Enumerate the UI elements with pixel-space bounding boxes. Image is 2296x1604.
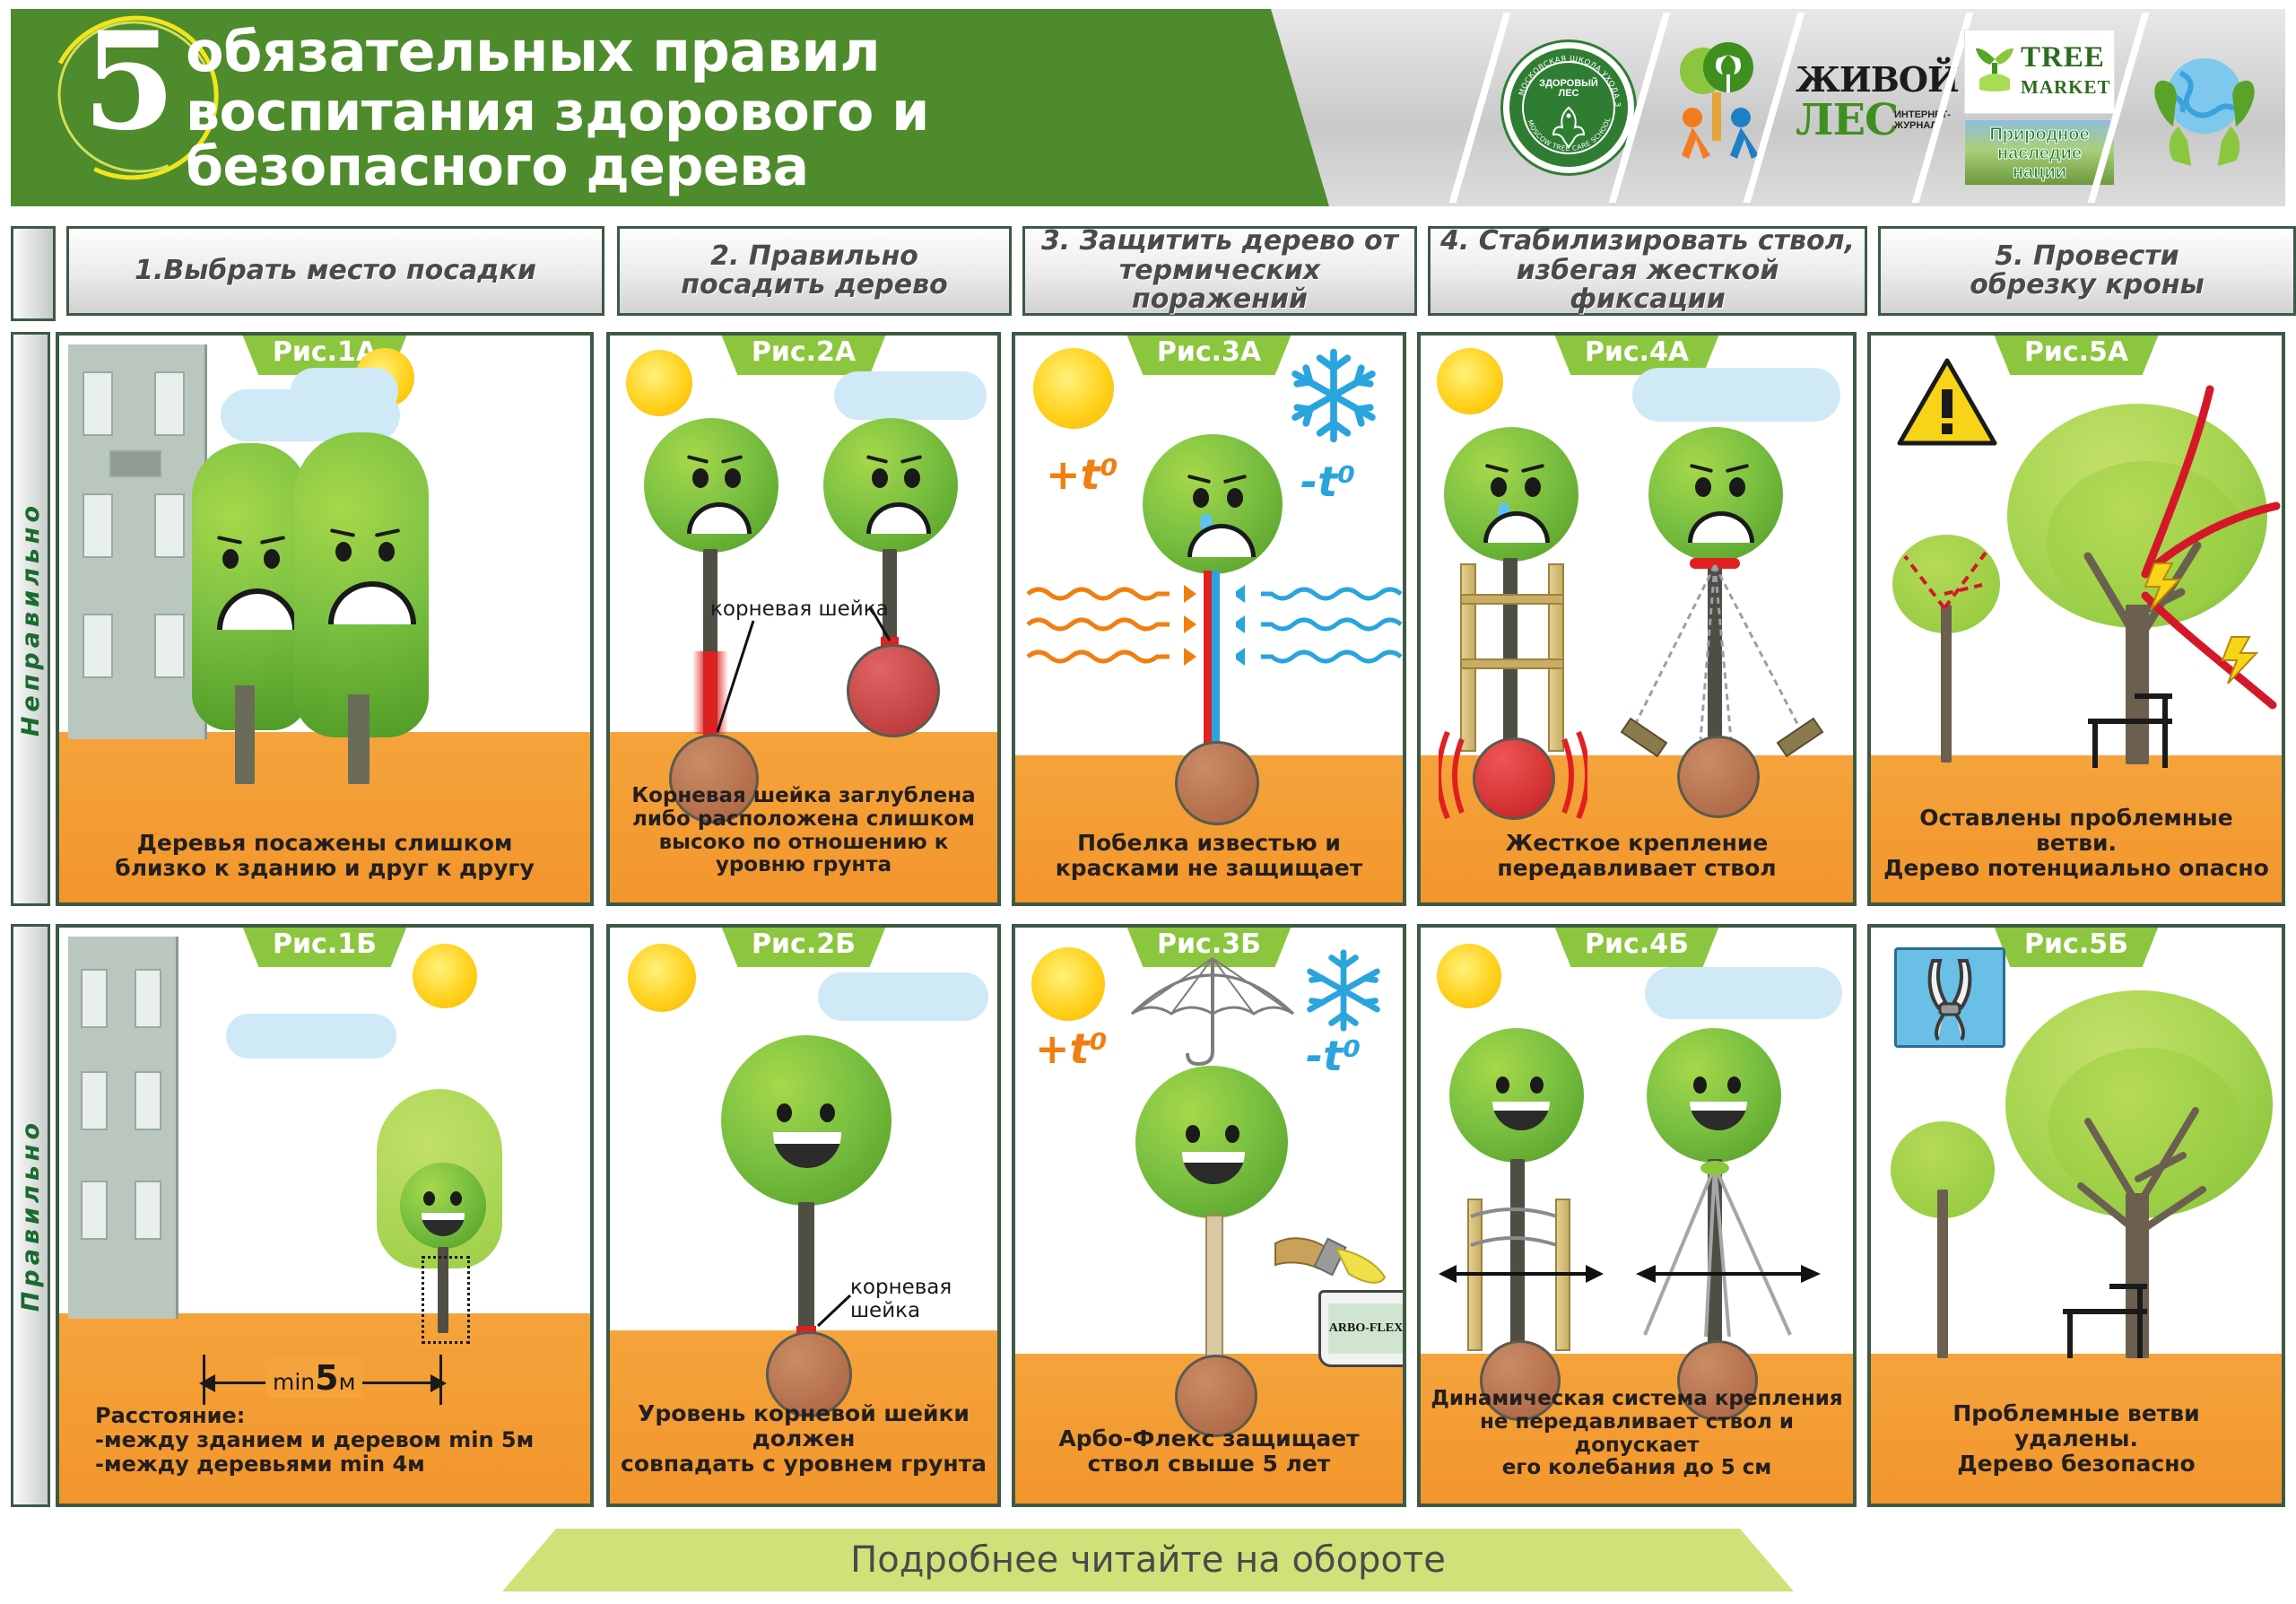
bench-icon — [2079, 689, 2187, 775]
nasledie-line3: нации — [2013, 162, 2066, 182]
poster-header: 5 обязательных правил воспитания здорово… — [11, 9, 2285, 206]
panel-3b[interactable]: Рис.3Б +t⁰ -t⁰ — [1012, 924, 1406, 1507]
cloud-icon — [291, 368, 398, 414]
column-header-4-label: 4. Стабилизировать ствол, избегая жестко… — [1438, 227, 1857, 314]
nasledie-line1: Природное — [1989, 125, 2089, 144]
building — [68, 937, 178, 1319]
sway-arrows-right — [1632, 1256, 1824, 1292]
panel-1b[interactable]: Рис.1Б — [56, 924, 594, 1507]
logo-globe-hands[interactable] — [2127, 13, 2282, 203]
globe-hands-icon — [2137, 40, 2272, 175]
building — [68, 344, 207, 739]
panel-2a-annotation: корневая шейка — [710, 597, 889, 621]
panel-1a[interactable]: Рис.1А — [56, 332, 594, 906]
panel-2a-caption: Корневая шейка заглублена либо расположе… — [610, 785, 997, 877]
arbo-flex-bucket: ARBO-FLEX — [1318, 1290, 1406, 1367]
tree-market-wordmark: TREE MARKET — [2021, 41, 2111, 99]
panel-2a[interactable]: Рис.2А — [606, 332, 1001, 906]
column-header-3-label: 3. Защитить дерево от термических пораже… — [1032, 227, 1407, 314]
rule-count-number: 5 — [66, 14, 192, 167]
column-header-5[interactable]: 5. Провести обрезку кроны — [1878, 226, 2296, 316]
column-header-3[interactable]: 3. Защитить дерево от термических пораже… — [1022, 226, 1417, 316]
seal-center-label: ЗДОРОВЫЙЛЕС — [1509, 79, 1628, 99]
panel-4a[interactable]: Рис.4А — [1417, 332, 1857, 906]
tree-market-logo: TREE MARKET — [1964, 30, 2115, 114]
sun-icon — [1031, 947, 1105, 1021]
cloud-icon — [818, 972, 988, 1021]
small-tree-problem-branches — [1889, 531, 2009, 657]
panel-4a-caption: Жесткое крепление передавливает ствол — [1421, 831, 1853, 881]
header-title: обязательных правил воспитания здорового… — [186, 23, 1289, 196]
header-title-line1: обязательных правил — [186, 23, 1289, 80]
nasledie-line2: наследие — [1997, 144, 2082, 163]
column-header-1-label: 1.Выбрать место посадки — [135, 257, 536, 285]
leaf-sprout-icon — [1970, 38, 2019, 93]
panel-4b[interactable]: Рис.4Б — [1417, 924, 1857, 1507]
header-title-line2: воспитания здорового и безопасного дерев… — [186, 85, 1289, 195]
panel-3a[interactable]: Рис.3А +t⁰ -t⁰ — [1012, 332, 1406, 906]
sun-icon — [628, 944, 696, 1012]
cloud-icon — [226, 1014, 396, 1059]
panel-5b-figure-label: Рис.5Б — [1994, 926, 2159, 967]
pruner-icon-box — [1894, 947, 2005, 1048]
column-header-1[interactable]: 1.Выбрать место посадки — [66, 226, 604, 316]
panel-5b[interactable]: Рис.5Б — [1867, 924, 2285, 1507]
tree-market-line2: MARKET — [2021, 76, 2111, 99]
panel-5b-caption: Проблемные ветви удалены. Дерево безопас… — [1871, 1401, 2282, 1477]
dynamic-guy-system — [1623, 1159, 1830, 1349]
panel-5a-figure-label: Рис.5А — [1994, 334, 2159, 375]
column-header-2[interactable]: 2. Правильно посадить дерево — [617, 226, 1012, 316]
panel-5a-caption: Оставлены проблемные ветви. Дерево потен… — [1871, 806, 2282, 881]
panel-2b-annotation: корневая шейка — [850, 1276, 997, 1322]
temp-hot-label: +t⁰ — [1046, 450, 1118, 499]
temp-hot-label: +t⁰ — [1035, 1024, 1108, 1073]
panel-1b-figure-label: Рис.1Б — [242, 926, 407, 967]
cloud-icon — [1632, 368, 1840, 422]
panel-4b-caption: Динамическая система крепления не переда… — [1421, 1388, 1853, 1480]
heat-wave-arrows — [1026, 583, 1196, 682]
cloud-icon — [1645, 967, 1842, 1019]
panel-1b-caption: Расстояние: -между зданием и деревом min… — [59, 1404, 590, 1477]
sun-icon — [413, 944, 477, 1008]
prirodnoe-nasledie-logo: Природное наследие нации — [1964, 119, 2115, 186]
arbo-flex-label: ARBO-FLEX — [1321, 1321, 1406, 1336]
sun-icon — [1033, 348, 1114, 429]
compression-waves — [1439, 727, 1587, 827]
eco-festival-icon — [1662, 40, 1770, 175]
panel-1a-caption: Деревья посажены слишком близко к зданию… — [59, 831, 590, 881]
temp-cold-label: -t⁰ — [1300, 458, 1355, 506]
sun-icon — [1437, 348, 1503, 414]
infographic-poster: 5 обязательных правил воспитания здорово… — [0, 0, 2296, 1604]
tree-market-line1: TREE — [2021, 41, 2111, 74]
zhivoy-les-line2: ЛЕС — [1796, 95, 1898, 145]
snowflake-icon — [1284, 346, 1383, 445]
column-header-5-label: 5. Провести обрезку кроны — [1970, 242, 2204, 301]
pruning-shears-icon — [1897, 950, 2003, 1045]
footer-text: Подробнее читайте на обороте — [850, 1539, 1446, 1581]
column-header-row: 1.Выбрать место посадки 2. Правильно пос… — [11, 226, 2285, 316]
nasledie-text: Природное наследие нации — [1965, 126, 2114, 182]
temp-cold-label: -t⁰ — [1306, 1032, 1361, 1080]
row-label-right: Правильно — [11, 924, 50, 1507]
cloud-icon — [834, 371, 987, 420]
column-header-4[interactable]: 4. Стабилизировать ствол, избегая жестко… — [1428, 226, 1867, 316]
panel-2b-figure-label: Рис.2Б — [721, 926, 886, 967]
footer-banner[interactable]: Подробнее читайте на обороте — [502, 1529, 1794, 1591]
panel-4b-figure-label: Рис.4Б — [1554, 926, 1719, 967]
panel-3a-caption: Побелка известью и красками не защищает — [1015, 831, 1403, 881]
panel-2b[interactable]: Рис.2Б корневая шейка Уровень корневой ш… — [606, 924, 1001, 1507]
seal-icon: МОСКОВСКАЯ ШКОЛА УХОДА ЗА ДЕРЕВЬЯМИ MOSC… — [1503, 42, 1634, 173]
panel-3a-figure-label: Рис.3А — [1126, 334, 1291, 375]
logo-moscow-tree-care-school[interactable]: МОСКОВСКАЯ ШКОЛА УХОДА ЗА ДЕРЕВЬЯМИ MOSC… — [1489, 13, 1648, 203]
logo-strip: МОСКОВСКАЯ ШКОЛА УХОДА ЗА ДЕРЕВЬЯМИ MOSC… — [1489, 13, 2282, 203]
panel-2a-figure-label: Рис.2А — [721, 334, 886, 375]
cold-wave-arrows — [1236, 583, 1403, 682]
row-label-right-text: Правильно — [17, 1119, 45, 1312]
warning-triangle-icon — [1894, 355, 2000, 449]
zhivoy-les-line1: ЖИВОЙ — [1796, 59, 1959, 100]
panel-3b-caption: Арбо-Флекс защищает ствол свыше 5 лет — [1015, 1426, 1403, 1477]
row-label-wrong-text: Неправильно — [17, 501, 45, 737]
column-header-2-label: 2. Правильно посадить дерево — [681, 242, 947, 301]
logo-eco-children-festival[interactable] — [1648, 13, 1783, 203]
snowflake-icon — [1300, 947, 1387, 1033]
column-header-spine-spacer — [11, 226, 56, 321]
panel-2b-caption: Уровень корневой шейки должен совпадать … — [610, 1401, 997, 1477]
umbrella-icon — [1123, 951, 1302, 1068]
sun-icon — [626, 350, 692, 416]
zhivoy-les-wordmark: ЖИВОЙ ЛЕС ИНТЕРНЕТ-ЖУРНАЛ — [1796, 54, 1939, 161]
row-label-wrong: Неправильно — [11, 332, 50, 906]
bench-icon — [2054, 1279, 2161, 1365]
sun-icon — [1437, 944, 1501, 1008]
sway-arrows-left — [1437, 1256, 1616, 1292]
panel-5a[interactable]: Рис.5А — [1867, 332, 2285, 906]
bird-icon — [1544, 104, 1593, 151]
